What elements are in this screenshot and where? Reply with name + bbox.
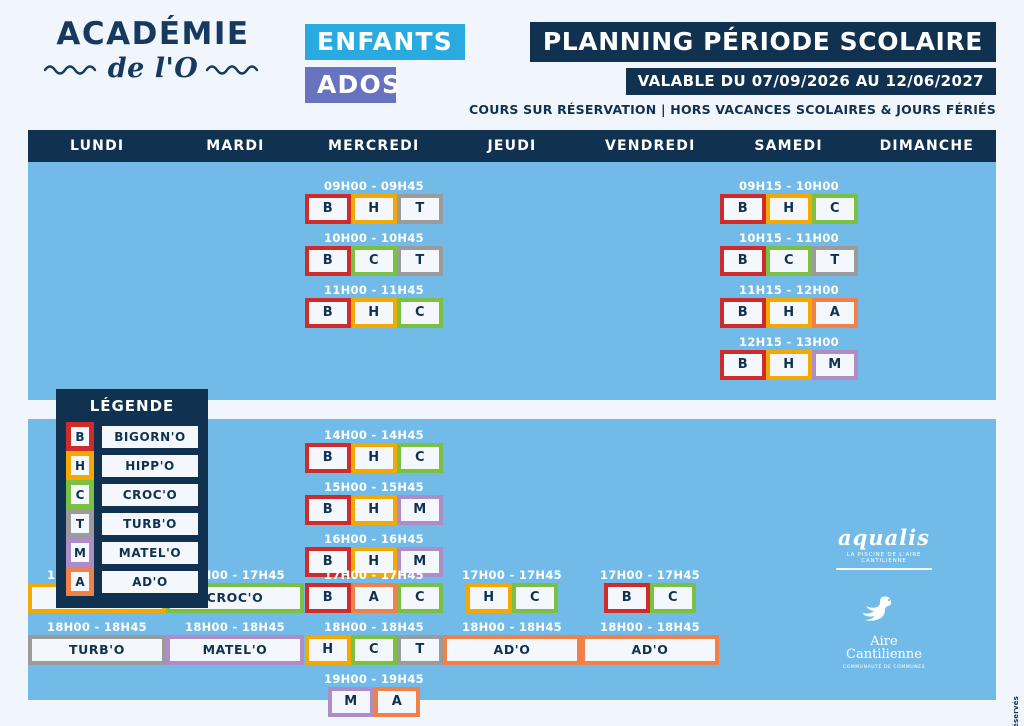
course-chip-label: B bbox=[309, 587, 347, 609]
wave-left-icon bbox=[43, 61, 101, 75]
time-slot: 15H00 - 15H45BHM bbox=[305, 479, 443, 525]
course-chip-label: C bbox=[401, 302, 439, 324]
course-chip-c[interactable]: C bbox=[397, 583, 443, 613]
legend-key-letter: B bbox=[71, 427, 89, 446]
course-chip-h[interactable]: H bbox=[351, 443, 397, 473]
course-chip-h[interactable]: H bbox=[305, 635, 351, 665]
day-header-row: LUNDI MARDI MERCREDI JEUDI VENDREDI SAME… bbox=[28, 130, 996, 162]
aire-name-line2: Cantilienne bbox=[824, 648, 944, 662]
course-chip-label: H bbox=[355, 302, 393, 324]
course-chip-m[interactable]: M bbox=[812, 350, 858, 380]
time-slot-label: 18H00 - 18H45 bbox=[28, 619, 166, 635]
time-slot-label: 15H00 - 15H45 bbox=[305, 479, 443, 495]
course-chip-h[interactable]: H bbox=[466, 583, 512, 613]
schedule-cell-vendredi: 17H00 - 17H45BC bbox=[581, 567, 719, 613]
chip-row: BC bbox=[581, 583, 719, 613]
time-slot: 09H15 - 10H00BHC bbox=[720, 178, 858, 224]
course-chip-label: H bbox=[770, 198, 808, 220]
day-header-jeudi: JEUDI bbox=[443, 130, 581, 162]
badge-ados: ADOS bbox=[305, 67, 396, 103]
day-header-lundi: LUNDI bbox=[28, 130, 166, 162]
booking-note: COURS SUR RÉSERVATION | HORS VACANCES SC… bbox=[469, 102, 996, 117]
course-chip-m[interactable]: MATEL'O bbox=[166, 635, 304, 665]
course-chip-b[interactable]: B bbox=[305, 298, 351, 328]
planning-poster: ACADÉMIE de l'O ENFANTS ADOS PLANNING PÉ… bbox=[0, 0, 1024, 726]
legend-color-swatch: T bbox=[66, 509, 94, 538]
course-chip-label: B bbox=[724, 354, 762, 376]
course-chip-label: C bbox=[401, 587, 439, 609]
day-header-samedi: SAMEDI bbox=[719, 130, 857, 162]
legend-color-swatch: A bbox=[66, 567, 94, 596]
course-chip-label: B bbox=[309, 499, 347, 521]
title-block: PLANNING PÉRIODE SCOLAIRE VALABLE DU 07/… bbox=[469, 22, 996, 117]
course-chip-label: B bbox=[724, 198, 762, 220]
time-slot: 10H15 - 11H00BCT bbox=[720, 230, 858, 276]
column-samedi-morning: 09H15 - 10H00BHC10H15 - 11H00BCT11H15 - … bbox=[720, 162, 858, 400]
time-slot-label: 11H15 - 12H00 bbox=[720, 282, 858, 298]
copyright-text: Création SARL ORAMMA - Tous droits réser… bbox=[1012, 696, 1020, 726]
course-chip-label: AD'O bbox=[585, 639, 715, 661]
course-chip-h[interactable]: H bbox=[351, 298, 397, 328]
course-chip-b[interactable]: B bbox=[720, 298, 766, 328]
course-chip-h[interactable]: H bbox=[766, 194, 812, 224]
time-slot-label: 10H00 - 10H45 bbox=[305, 230, 443, 246]
legend-item-label: AD'O bbox=[102, 571, 198, 593]
schedule-grid: LUNDI MARDI MERCREDI JEUDI VENDREDI SAME… bbox=[28, 130, 996, 700]
legend-item-matelo[interactable]: MMATEL'O bbox=[66, 538, 198, 567]
course-chip-label: C bbox=[355, 639, 393, 661]
legend-rows: BBIGORN'OHHIPP'OCCROC'OTTURB'OMMATEL'OAA… bbox=[66, 422, 198, 596]
course-chip-label: C bbox=[654, 587, 692, 609]
time-slot-label: 11H00 - 11H45 bbox=[305, 282, 443, 298]
schedule-cell-mardi: 18H00 - 18H45MATEL'O bbox=[166, 619, 304, 665]
course-chip-a[interactable]: AD'O bbox=[443, 635, 581, 665]
logo-subtitle: de l'O bbox=[108, 53, 199, 84]
legend-color-swatch: H bbox=[66, 451, 94, 480]
chip-row: HC bbox=[443, 583, 581, 613]
time-slot-label: 12H15 - 13H00 bbox=[720, 334, 858, 350]
course-chip-label: T bbox=[401, 198, 439, 220]
course-chip-label: H bbox=[770, 302, 808, 324]
course-chip-label: C bbox=[516, 587, 554, 609]
course-chip-a[interactable]: A bbox=[812, 298, 858, 328]
course-chip-c[interactable]: C bbox=[766, 246, 812, 276]
course-chip-b[interactable]: B bbox=[305, 246, 351, 276]
course-chip-label: A bbox=[355, 587, 393, 609]
course-chip-label: MATEL'O bbox=[170, 639, 300, 661]
academie-logo: ACADÉMIE de l'O bbox=[28, 18, 278, 84]
chip-row: AD'O bbox=[443, 635, 581, 665]
chip-row: HCT bbox=[305, 635, 443, 665]
wave-right-icon bbox=[205, 61, 263, 75]
course-chip-label: M bbox=[332, 691, 370, 713]
course-chip-label: B bbox=[309, 250, 347, 272]
course-chip-b[interactable]: B bbox=[305, 495, 351, 525]
course-chip-label: B bbox=[608, 587, 646, 609]
time-slot-label: 18H00 - 18H45 bbox=[581, 619, 719, 635]
time-slot-label: 09H15 - 10H00 bbox=[720, 178, 858, 194]
course-chip-c[interactable]: C bbox=[397, 443, 443, 473]
badge-enfants: ENFANTS bbox=[305, 24, 465, 60]
aire-tagline: COMMUNAUTÉ DE COMMUNES bbox=[824, 665, 944, 670]
course-chip-h[interactable]: H bbox=[766, 350, 812, 380]
course-chip-a[interactable]: AD'O bbox=[581, 635, 719, 665]
course-chip-c[interactable]: C bbox=[512, 583, 558, 613]
time-slot-label: 18H00 - 18H45 bbox=[166, 619, 304, 635]
course-chip-t[interactable]: T bbox=[397, 246, 443, 276]
legend-item-hippo[interactable]: HHIPP'O bbox=[66, 451, 198, 480]
course-chip-label: C bbox=[770, 250, 808, 272]
legend-item-bigorno[interactable]: BBIGORN'O bbox=[66, 422, 198, 451]
course-chip-label: A bbox=[378, 691, 416, 713]
legend-key-letter: T bbox=[71, 514, 89, 533]
time-slot: 10H00 - 10H45BCT bbox=[305, 230, 443, 276]
aqualis-tagline: LA PISCINE DE L'AIRE CANTILIENNE bbox=[824, 552, 944, 564]
legend-item-label: MATEL'O bbox=[102, 542, 198, 564]
course-chip-label: T bbox=[401, 639, 439, 661]
time-slot-label: 17H00 - 17H45 bbox=[581, 567, 719, 583]
course-chip-b[interactable]: B bbox=[720, 350, 766, 380]
course-chip-h[interactable]: H bbox=[766, 298, 812, 328]
schedule-cell-jeudi: 18H00 - 18H45AD'O bbox=[443, 619, 581, 665]
course-chip-t[interactable]: TURB'O bbox=[28, 635, 166, 665]
course-chip-c[interactable]: C bbox=[351, 246, 397, 276]
chip-row: BHC bbox=[305, 298, 443, 328]
course-chip-b[interactable]: B bbox=[305, 583, 351, 613]
chip-row: MA bbox=[305, 687, 443, 717]
legend-color-swatch: M bbox=[66, 538, 94, 567]
course-chip-b[interactable]: B bbox=[305, 443, 351, 473]
course-chip-c[interactable]: C bbox=[812, 194, 858, 224]
course-chip-b[interactable]: B bbox=[720, 194, 766, 224]
aire-name-line1: Aire bbox=[824, 635, 944, 649]
legend-key-letter: H bbox=[71, 456, 89, 475]
chip-row: BHM bbox=[720, 350, 858, 380]
course-chip-c[interactable]: C bbox=[351, 635, 397, 665]
legend-item-turbo[interactable]: TTURB'O bbox=[66, 509, 198, 538]
course-chip-label: H bbox=[355, 499, 393, 521]
page-title: PLANNING PÉRIODE SCOLAIRE bbox=[530, 22, 996, 62]
time-slot-label: 18H00 - 18H45 bbox=[305, 619, 443, 635]
day-header-vendredi: VENDREDI bbox=[581, 130, 719, 162]
legend-key-letter: A bbox=[71, 572, 89, 591]
course-chip-label: H bbox=[355, 447, 393, 469]
course-chip-label: B bbox=[309, 302, 347, 324]
time-slot-label: 18H00 - 18H45 bbox=[443, 619, 581, 635]
course-chip-label: B bbox=[309, 447, 347, 469]
logo-title: ACADÉMIE bbox=[28, 18, 278, 51]
legend-color-swatch: B bbox=[66, 422, 94, 451]
course-chip-label: B bbox=[309, 198, 347, 220]
course-chip-label: C bbox=[355, 250, 393, 272]
legend-item-label: CROC'O bbox=[102, 484, 198, 506]
aqualis-underline bbox=[836, 568, 932, 570]
course-chip-label: B bbox=[724, 250, 762, 272]
course-chip-label: T bbox=[816, 250, 854, 272]
legend-item-label: TURB'O bbox=[102, 513, 198, 535]
chip-row: AD'O bbox=[581, 635, 719, 665]
aqualis-logo: aqualis LA PISCINE DE L'AIRE CANTILIENNE bbox=[824, 525, 944, 570]
legend-item-croco[interactable]: CCROC'O bbox=[66, 480, 198, 509]
legend-title: LÉGENDE bbox=[66, 397, 198, 415]
legend-key-letter: M bbox=[71, 543, 89, 562]
course-chip-label: C bbox=[816, 198, 854, 220]
course-chip-label: C bbox=[401, 447, 439, 469]
legend-item-label: BIGORN'O bbox=[102, 426, 198, 448]
poster-header: ACADÉMIE de l'O ENFANTS ADOS PLANNING PÉ… bbox=[0, 0, 1024, 120]
time-slot: 11H00 - 11H45BHC bbox=[305, 282, 443, 328]
chip-row: BHM bbox=[305, 495, 443, 525]
legend-panel: LÉGENDE BBIGORN'OHHIPP'OCCROC'OTTURB'OMM… bbox=[56, 389, 208, 608]
course-chip-h[interactable]: H bbox=[351, 194, 397, 224]
time-slot-label: 10H15 - 11H00 bbox=[720, 230, 858, 246]
legend-color-swatch: C bbox=[66, 480, 94, 509]
aqualis-name: aqualis bbox=[824, 525, 944, 550]
schedule-cell-jeudi: 17H00 - 17H45HC bbox=[443, 567, 581, 613]
schedule-cell-mercredi: 18H00 - 18H45HCT bbox=[305, 619, 443, 665]
course-chip-t[interactable]: T bbox=[397, 635, 443, 665]
time-slot: 12H15 - 13H00BHM bbox=[720, 334, 858, 380]
chip-row: BHC bbox=[305, 443, 443, 473]
course-chip-label: B bbox=[724, 302, 762, 324]
chip-row: BCT bbox=[305, 246, 443, 276]
validity-period: VALABLE DU 07/09/2026 AU 12/06/2027 bbox=[626, 68, 996, 95]
course-chip-label: TURB'O bbox=[32, 639, 162, 661]
time-slot-label: 17H00 - 17H45 bbox=[305, 567, 443, 583]
time-slot-label: 17H00 - 17H45 bbox=[443, 567, 581, 583]
course-chip-label: A bbox=[816, 302, 854, 324]
course-chip-a[interactable]: A bbox=[351, 583, 397, 613]
aire-cantilienne-logo: Aire Cantilienne COMMUNAUTÉ DE COMMUNES bbox=[824, 594, 944, 670]
course-chip-c[interactable]: C bbox=[650, 583, 696, 613]
course-chip-c[interactable]: C bbox=[397, 298, 443, 328]
course-chip-b[interactable]: B bbox=[720, 246, 766, 276]
schedule-cell-vendredi: 18H00 - 18H45AD'O bbox=[581, 619, 719, 665]
time-slot: 09H00 - 09H45BHT bbox=[305, 178, 443, 224]
chip-row: BHT bbox=[305, 194, 443, 224]
course-chip-label: M bbox=[401, 499, 439, 521]
course-chip-label: H bbox=[770, 354, 808, 376]
course-chip-m[interactable]: M bbox=[328, 687, 374, 717]
chip-row: TURB'O bbox=[28, 635, 166, 665]
course-chip-label: H bbox=[355, 198, 393, 220]
chip-row: BHA bbox=[720, 298, 858, 328]
audience-badges: ENFANTS ADOS bbox=[305, 24, 465, 103]
legend-key-letter: C bbox=[71, 485, 89, 504]
course-chip-label: AD'O bbox=[447, 639, 577, 661]
time-slot-label: 09H00 - 09H45 bbox=[305, 178, 443, 194]
course-chip-t[interactable]: T bbox=[397, 194, 443, 224]
course-chip-label: T bbox=[401, 250, 439, 272]
course-chip-label: H bbox=[309, 639, 347, 661]
time-slot: 11H15 - 12H00BHA bbox=[720, 282, 858, 328]
course-chip-b[interactable]: B bbox=[305, 194, 351, 224]
course-chip-a[interactable]: A bbox=[374, 687, 420, 717]
day-header-mardi: MARDI bbox=[166, 130, 304, 162]
morning-band: 09H00 - 09H45BHT10H00 - 10H45BCT11H00 - … bbox=[28, 162, 996, 400]
legend-item-label: HIPP'O bbox=[102, 455, 198, 477]
legend-item-ado[interactable]: AAD'O bbox=[66, 567, 198, 596]
chip-row: MATEL'O bbox=[166, 635, 304, 665]
sponsor-logos: aqualis LA PISCINE DE L'AIRE CANTILIENNE… bbox=[824, 525, 944, 670]
course-chip-h[interactable]: H bbox=[351, 495, 397, 525]
course-chip-b[interactable]: B bbox=[604, 583, 650, 613]
day-header-dimanche: DIMANCHE bbox=[858, 130, 996, 162]
schedule-cell-lundi: 18H00 - 18H45TURB'O bbox=[28, 619, 166, 665]
chip-row: BCT bbox=[720, 246, 858, 276]
course-chip-m[interactable]: M bbox=[397, 495, 443, 525]
schedule-cell-mercredi: 17H00 - 17H45BAC bbox=[305, 567, 443, 613]
time-slot-label: 14H00 - 14H45 bbox=[305, 427, 443, 443]
course-chip-label: H bbox=[470, 587, 508, 609]
heron-icon bbox=[860, 594, 908, 630]
column-mercredi-morning: 09H00 - 09H45BHT10H00 - 10H45BCT11H00 - … bbox=[305, 162, 443, 400]
chip-row: BHC bbox=[720, 194, 858, 224]
course-chip-label: M bbox=[816, 354, 854, 376]
chip-row: BAC bbox=[305, 583, 443, 613]
time-slot-label: 16H00 - 16H45 bbox=[305, 531, 443, 547]
time-slot: 14H00 - 14H45BHC bbox=[305, 427, 443, 473]
time-slot: 19H00 - 19H45MA bbox=[305, 671, 443, 717]
course-chip-t[interactable]: T bbox=[812, 246, 858, 276]
time-slot-label: 19H00 - 19H45 bbox=[305, 671, 443, 687]
day-header-mercredi: MERCREDI bbox=[305, 130, 443, 162]
